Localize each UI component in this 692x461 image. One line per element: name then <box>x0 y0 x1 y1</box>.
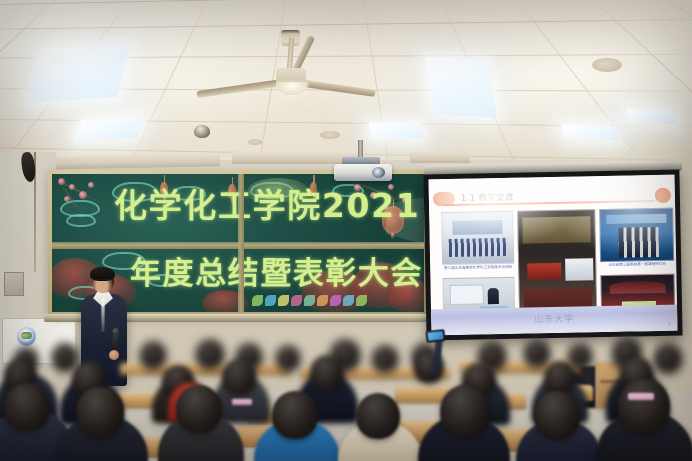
paper-cut-flower-icon <box>304 295 315 306</box>
paper-cut-flower-icon <box>265 295 276 306</box>
slide-title-bar: 1.1 教学交流 <box>429 188 675 208</box>
audience-head <box>440 385 490 437</box>
slide-photo <box>599 208 674 262</box>
audience-head <box>356 393 400 439</box>
audience-head <box>310 355 344 391</box>
audience-head <box>524 339 550 367</box>
slide-title: 1.1 教学交流 <box>461 191 514 204</box>
wall-soffit <box>410 152 470 163</box>
audience-head <box>372 345 398 372</box>
audience-head <box>176 385 222 433</box>
fan-light <box>276 82 308 95</box>
plum-branch <box>61 184 81 213</box>
slide-photo <box>441 211 514 265</box>
plum-blossom-icon <box>64 196 70 202</box>
ceiling-panel-light <box>74 116 145 141</box>
hair-clip-icon <box>232 399 252 405</box>
slide-photo-grid: 第八届山东省高校化学化工实验技术交流会 全国化工类课程思政与立德树人优秀教学案例… <box>439 206 667 305</box>
smartphone-camera[interactable] <box>425 329 445 343</box>
blackboard-headline-line2: 年度总结暨表彰大会 <box>130 256 423 292</box>
paper-cut-flower-icon <box>330 295 341 306</box>
blackboard-headline-line1: 化学化工学院2021 <box>114 187 420 225</box>
audience-head <box>140 341 166 369</box>
wall-switch-box[interactable] <box>4 272 24 296</box>
ceiling-air-vent <box>592 58 622 72</box>
ceiling-panel-light <box>626 109 676 124</box>
auspicious-cloud-icon <box>66 214 96 227</box>
ceiling-grid-line <box>669 0 692 112</box>
audience-head <box>76 387 124 437</box>
paper-cut-flower-icon <box>278 295 289 306</box>
auspicious-cloud-icon <box>60 200 100 217</box>
ceiling-panel-light <box>27 42 131 103</box>
ceiling-projector <box>332 140 404 186</box>
ceiling-panel-light <box>369 123 423 139</box>
audience-head <box>534 391 580 439</box>
ceiling-air-vent <box>248 139 262 145</box>
paper-cut-flower-row <box>252 295 367 306</box>
plum-branch <box>56 178 103 204</box>
audience-head <box>654 343 682 373</box>
ceiling-panel-light <box>425 56 497 117</box>
glasses-icon <box>95 279 112 283</box>
paper-cut-flower-icon <box>343 295 354 306</box>
paper-cut-flower-icon <box>356 295 367 306</box>
projector-lens-icon <box>372 167 385 178</box>
ceiling-panel-light <box>561 124 618 140</box>
plum-blossom-icon <box>79 191 87 199</box>
plum-blossom-icon <box>69 184 75 190</box>
audience-head <box>196 339 224 369</box>
ceiling-grid-line <box>0 0 692 7</box>
projection-screen-surface: 1.1 教学交流 第八届山东省高校化学化工实验技术交流会 <box>429 175 678 336</box>
audience-head <box>544 361 576 395</box>
slide-photo-caption: 山东省第三届高校第一届课程研讨会 <box>600 262 674 268</box>
plum-blossom-icon <box>88 182 94 188</box>
paper-cut-flower-icon <box>252 295 263 306</box>
hair-clip-icon <box>628 393 654 400</box>
ceiling-air-vent <box>320 131 340 139</box>
slide-photo-caption: 第八届山东省高校化学化工实验技术交流会 <box>442 265 514 271</box>
ceiling-fan <box>236 28 406 108</box>
dome-security-camera-icon <box>194 125 210 138</box>
plum-blossom-icon <box>58 178 65 185</box>
slide-accent-circle-right <box>655 188 671 203</box>
presentation-slide: 1.1 教学交流 第八届山东省高校化学化工实验技术交流会 <box>429 175 678 336</box>
audience-seating <box>0 321 692 461</box>
paper-cut-flower-icon <box>291 295 302 306</box>
audience-head <box>618 379 670 433</box>
audience-head <box>52 343 78 371</box>
audience-head <box>222 359 256 395</box>
audience-head <box>276 345 300 371</box>
blackboard-divider-vertical <box>238 174 244 312</box>
lecture-hall-photo: 化学化工学院2021 年度总结暨表彰大会 <box>0 0 692 461</box>
audience-head <box>272 391 318 439</box>
paper-cut-flower-icon <box>317 295 328 306</box>
audience-head <box>4 383 50 431</box>
projection-screen: 1.1 教学交流 第八届山东省高校化学化工实验技术交流会 <box>423 170 682 341</box>
audience-head <box>568 343 592 369</box>
